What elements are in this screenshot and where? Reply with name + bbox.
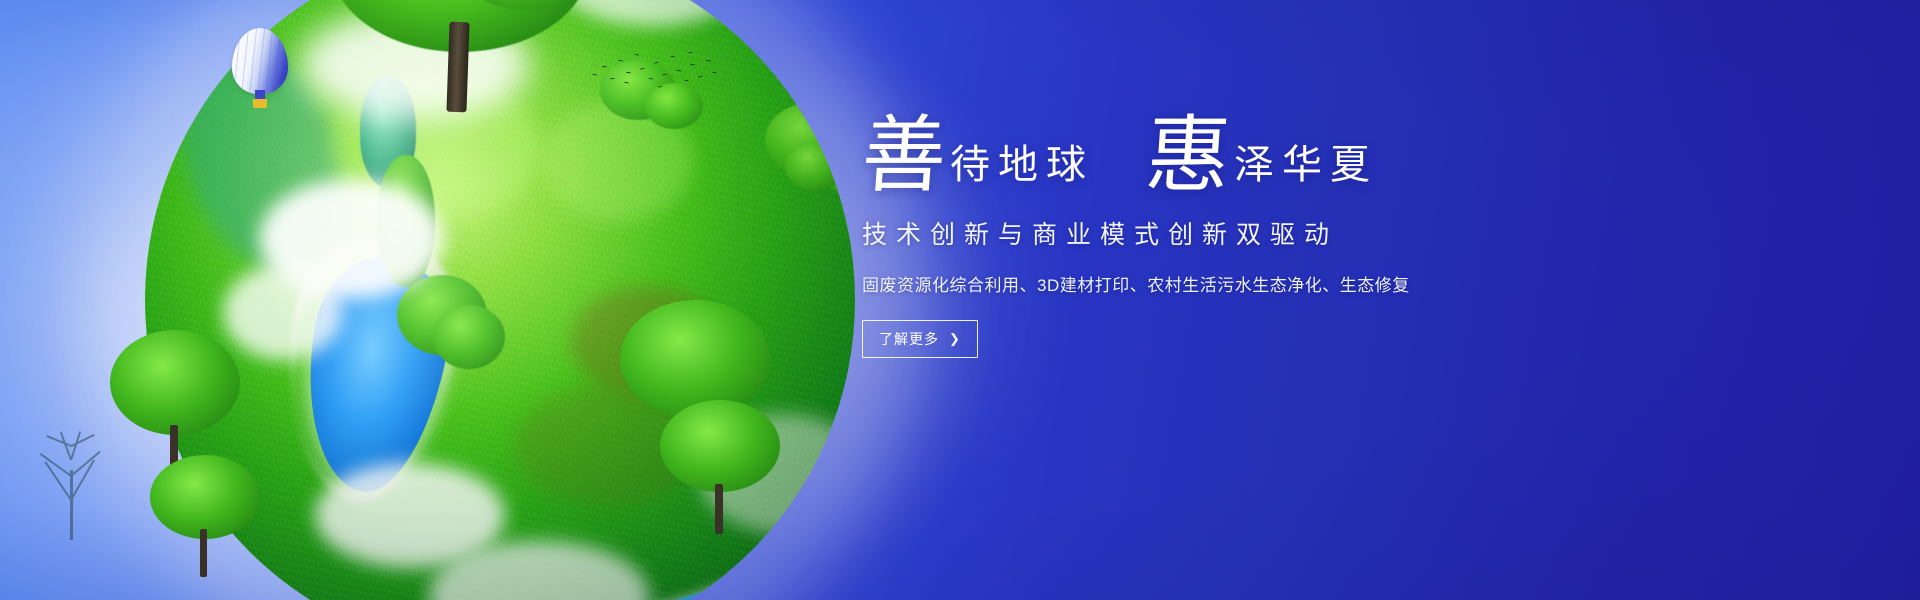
bird-icon [626,72,631,75]
hero-copy: 善 待地球 惠 泽华夏 技术创新与商业模式创新双驱动 固废资源化综合利用、3D建… [862,118,1862,358]
bird-icon [676,70,681,74]
shrub [785,141,845,191]
bird-icon [658,85,664,89]
branch [46,436,71,447]
shrub [377,155,435,287]
learn-more-button[interactable]: 了解更多 ❯ [862,320,978,358]
shrub [397,275,487,355]
hero-subtitle: 技术创新与商业模式创新双驱动 [862,215,1862,251]
headline-text-2: 泽华夏 [1234,145,1378,195]
bird-icon [670,56,675,60]
shrub [433,305,505,369]
bird-icon [648,77,654,81]
cloud-icon [315,463,505,568]
chevron-right-icon: ❯ [949,331,961,347]
tree-icon [150,455,260,575]
bird-icon [640,68,645,72]
bird-icon [662,74,667,77]
cloud-icon [259,179,444,299]
hot-air-balloon-icon [232,28,288,120]
bird-icon [712,72,717,76]
bird-icon [602,66,607,69]
bird-flock-icon [588,48,718,92]
branch [70,434,94,447]
branch [40,453,72,477]
headline-text-1: 待地球 [950,145,1094,195]
branch [70,470,73,540]
bird-icon [634,53,640,58]
lake-shore [267,225,471,513]
headline-char-1: 善 [859,118,948,195]
bird-icon [592,73,598,77]
lake-icon [291,248,461,501]
bird-icon [618,60,623,64]
cloud-icon [223,265,343,360]
bird-icon [688,52,693,56]
terrain-patch [543,101,693,221]
hero-description: 固废资源化综合利用、3D建材打印、农村生活污水生态净化、生态修复 [862,271,1862,296]
bird-icon [690,64,695,68]
tree-icon [660,400,780,530]
bird-icon [624,81,630,85]
cloud-icon [429,541,649,600]
bird-icon [684,80,690,84]
headline-char-2: 惠 [1143,118,1232,195]
bird-icon [698,75,704,79]
bird-icon [654,61,660,65]
page-title: 善 待地球 惠 泽华夏 [862,118,1862,195]
bird-icon [706,60,711,63]
hero-banner: 善 待地球 惠 泽华夏 技术创新与商业模式创新双驱动 固废资源化综合利用、3D建… [0,0,1920,600]
learn-more-label: 了解更多 [879,329,939,349]
bird-icon [610,78,615,82]
tree-icon [330,0,590,102]
